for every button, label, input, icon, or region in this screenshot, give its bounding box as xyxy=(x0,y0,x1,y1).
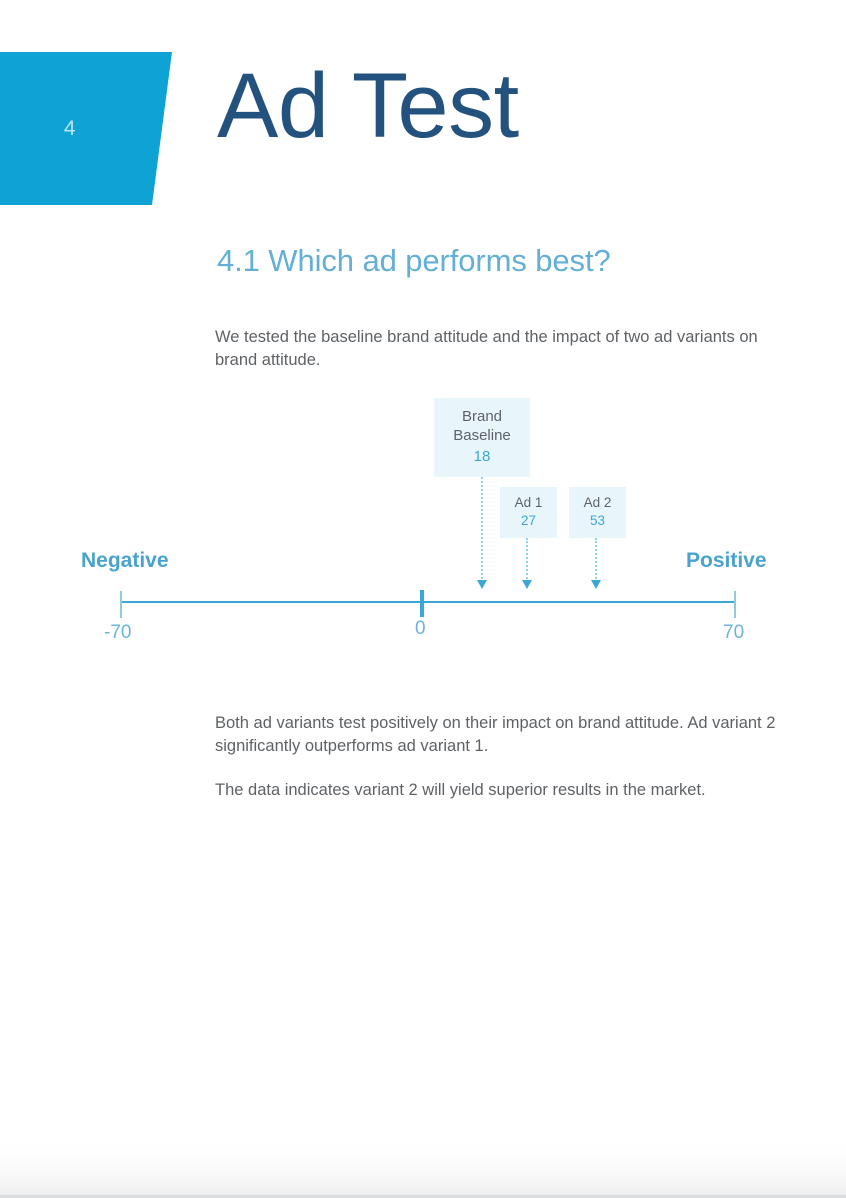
drop-arrow-ad-2 xyxy=(591,538,602,592)
axis-pole-label-positive: Positive xyxy=(686,549,767,573)
axis-tick-min xyxy=(120,591,122,618)
axis-line xyxy=(121,601,736,603)
conclusion-paragraph-2: The data indicates variant 2 will yield … xyxy=(215,779,815,802)
drop-arrow-head-icon xyxy=(477,580,487,589)
callout-brand-baseline-label-line2: Baseline xyxy=(453,427,511,445)
callout-brand-baseline: Brand Baseline 18 xyxy=(434,398,530,477)
drop-arrow-brand-baseline xyxy=(477,477,488,592)
axis-tick-label-max: 70 xyxy=(723,622,744,644)
drop-arrow-stem xyxy=(481,477,483,583)
drop-arrow-stem xyxy=(595,538,597,583)
conclusion-paragraph-1: Both ad variants test positively on thei… xyxy=(215,712,815,758)
axis-tick-label-min: -70 xyxy=(104,622,131,644)
callout-ad-2-label: Ad 2 xyxy=(584,495,612,511)
section-subtitle: 4.1 Which ad performs best? xyxy=(217,243,611,279)
axis-tick-zero xyxy=(420,590,424,617)
conclusion-block: Both ad variants test positively on thei… xyxy=(215,712,815,801)
brand-attitude-scale-chart: Brand Baseline 18 Ad 1 27 Ad 2 53 xyxy=(0,390,846,660)
callout-brand-baseline-label-line1: Brand xyxy=(462,408,502,426)
drop-arrow-head-icon xyxy=(522,580,532,589)
callout-ad-1-label: Ad 1 xyxy=(515,495,543,511)
drop-arrow-stem xyxy=(526,538,528,583)
slide-page: 4 Ad Test 4.1 Which ad performs best? We… xyxy=(0,0,846,1198)
callout-ad-2-value: 53 xyxy=(590,512,605,530)
axis-tick-label-zero: 0 xyxy=(415,618,426,640)
axis-pole-label-negative: Negative xyxy=(81,549,169,573)
page-title: Ad Test xyxy=(217,58,519,155)
callout-ad-1-value: 27 xyxy=(521,512,536,530)
page-bottom-gradient xyxy=(0,1138,846,1198)
intro-paragraph: We tested the baseline brand attitude an… xyxy=(215,326,775,372)
callout-ad-1: Ad 1 27 xyxy=(500,487,557,538)
drop-arrow-ad-1 xyxy=(522,538,533,592)
callout-brand-baseline-value: 18 xyxy=(474,447,491,467)
axis-tick-max xyxy=(734,591,736,618)
callout-ad-2: Ad 2 53 xyxy=(569,487,626,538)
section-number-label: 4 xyxy=(0,52,140,205)
drop-arrow-head-icon xyxy=(591,580,601,589)
